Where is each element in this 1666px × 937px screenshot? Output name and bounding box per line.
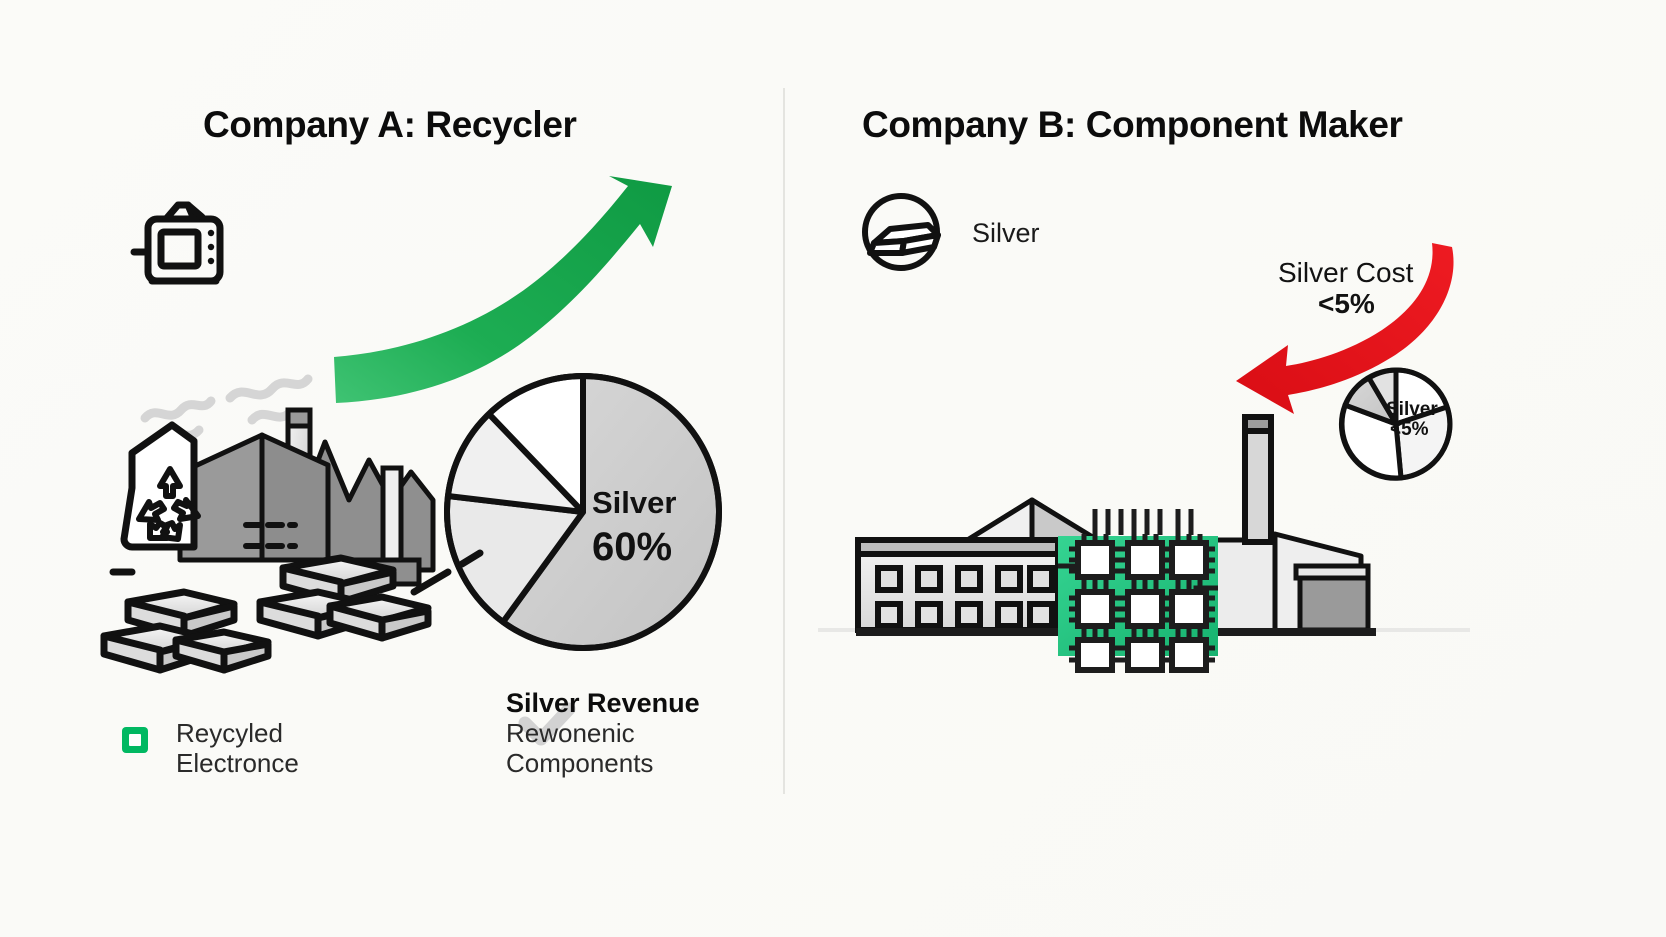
microwave-ewaste-icon (134, 205, 220, 281)
pie-b-silver-value: <5% (1390, 419, 1429, 441)
pie-a-silver-label: Silver (592, 485, 676, 521)
infographic-canvas: Company A: Recycler Company B: Component… (0, 0, 1666, 937)
pie-b-silver-label: Silver (1386, 399, 1438, 421)
component-factory-icon (856, 417, 1376, 636)
legend-left-line2: Electronce (176, 748, 299, 778)
smoke-plume-icon (145, 379, 308, 438)
silver-bar-circle-icon (865, 196, 938, 268)
legend-right-line3: Components (506, 748, 700, 778)
page-title-company-b: Company B: Component Maker (862, 104, 1403, 146)
panel-divider (783, 88, 785, 794)
silver-ingots-icon (104, 558, 428, 670)
legend-right-line1: Silver Revenue (506, 688, 700, 718)
silver-cost-callout-line2: <5% (1318, 288, 1375, 320)
silver-cost-callout-line1: Silver Cost (1278, 257, 1413, 289)
page-title-company-a: Company A: Recycler (203, 104, 577, 146)
company-a-pie-chart (447, 376, 719, 648)
legend-left-line1: Reycyled (176, 718, 299, 748)
silver-input-label: Silver (972, 218, 1040, 249)
pie-a-silver-value: 60% (592, 525, 672, 570)
legend-right-line2: Rewonenic (506, 718, 700, 748)
legend-swatch-green (122, 727, 148, 753)
growth-arrow-up-icon (334, 176, 672, 403)
pcb-chips-icon (1058, 509, 1218, 670)
pie-connector-dashes (414, 553, 480, 592)
recycling-factory-icon (113, 410, 433, 584)
